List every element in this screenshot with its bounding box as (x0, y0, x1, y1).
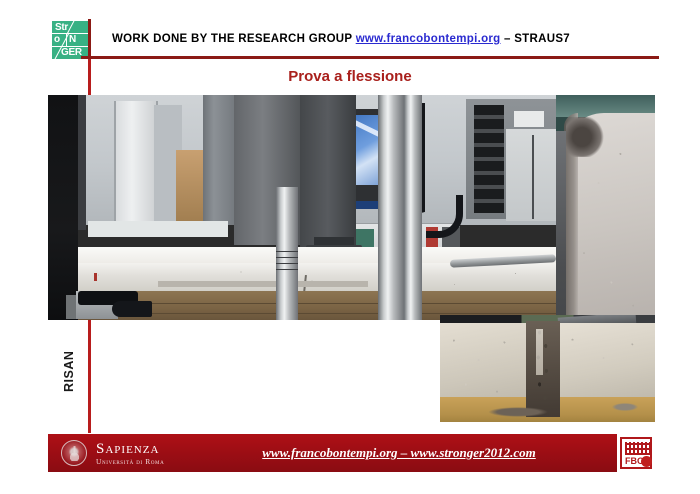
institution-name: Sapienza (96, 441, 164, 457)
sapienza-seal-icon (61, 440, 87, 466)
photo-dark-frame (48, 95, 78, 320)
photo-machine-pillar-2 (378, 95, 404, 320)
stronger-logo: Str o N GER (52, 21, 89, 59)
photo-red-marker (94, 273, 97, 281)
logo-cell-o: o (54, 34, 60, 45)
header-title-prefix: WORK DONE BY THE RESEARCH GROUP (112, 33, 352, 45)
crack-photo-fracture (526, 321, 560, 417)
footer-bar: Sapienza Università di Roma www.francobo… (48, 434, 655, 472)
slide-canvas: Str o N GER WORK DONE BY THE RESEARCH GR… (0, 0, 700, 494)
photo-specimen-texture (48, 263, 556, 293)
header-title: WORK DONE BY THE RESEARCH GROUP www.fran… (112, 33, 570, 45)
fbo-logo: FBO (617, 434, 655, 472)
photo-bench (88, 221, 228, 237)
logo-cell-ger: GER (61, 47, 82, 58)
photo-wood-panel (176, 150, 206, 225)
photo-door-frame (114, 101, 158, 223)
photo-support-beam (158, 281, 368, 287)
fbo-logo-frame: FBO (620, 437, 652, 469)
crack-detail-photo (440, 315, 655, 422)
flexural-test-machine-photo (48, 95, 556, 320)
surface-photo-broken-corner (566, 117, 606, 157)
page-title: Prova a flessione (0, 68, 700, 85)
crack-photo-right-face (552, 323, 655, 399)
header-rule (81, 56, 659, 59)
institution-subtitle: Università di Roma (96, 457, 164, 466)
fbo-logo-dot (641, 456, 652, 467)
left-vertical-rule-top (88, 19, 91, 59)
crack-photo-exposed-core (536, 329, 543, 375)
crack-photo-debris-1 (488, 407, 548, 417)
photo-thin-rod (532, 135, 534, 219)
side-label: RISAN (52, 322, 82, 422)
photo-right-wall (506, 129, 556, 221)
logo-cell-str: Str (55, 22, 68, 33)
photo-rack-slots (474, 105, 504, 213)
photo-machine-pillar-rings (276, 251, 298, 273)
header-title-suffix: – STRAUS7 (504, 33, 570, 45)
logo-cell-n: N (69, 34, 76, 45)
photo-machine-pillar-3 (404, 95, 422, 320)
fbo-logo-pattern (625, 442, 651, 455)
side-label-text: RISAN (62, 351, 76, 392)
sapienza-logo: Sapienza Università di Roma (96, 441, 164, 466)
crack-photo-debris-2 (612, 403, 638, 411)
photo-rack-label (514, 111, 544, 127)
photo-machine-crosshead-2 (300, 95, 356, 250)
header-link[interactable]: www.francobontempi.org (356, 33, 501, 45)
footer-links[interactable]: www.francobontempi.org – www.stronger201… (199, 445, 599, 461)
photo-dark-fixture (112, 301, 152, 317)
